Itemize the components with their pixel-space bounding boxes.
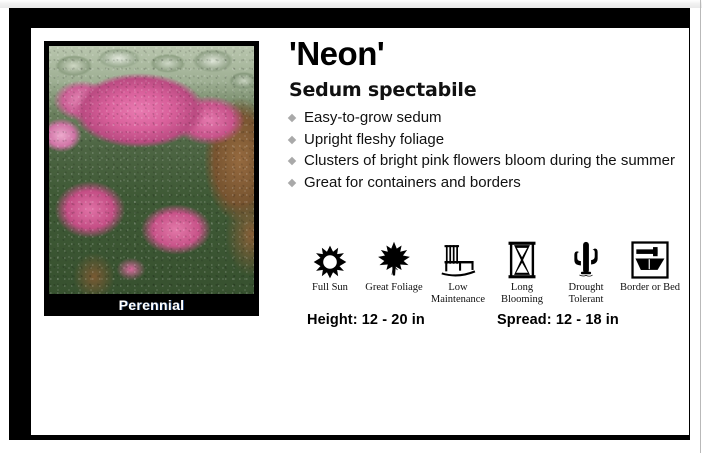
icon-label: Great Foliage xyxy=(363,282,425,294)
list-item: Upright fleshy foliage xyxy=(289,130,677,151)
garden-bed-icon xyxy=(619,237,681,279)
plant-info-column: 'Neon' Sedum spectabile Easy-to-grow sed… xyxy=(289,36,677,194)
plant-attribute-icon-row: Full Sun Great Foliage xyxy=(299,237,681,305)
attribute-long-blooming: Long Blooming xyxy=(491,237,553,305)
plant-cultivar-title: 'Neon' xyxy=(289,36,677,72)
sun-icon xyxy=(299,237,361,279)
list-item: Great for containers and borders xyxy=(289,173,677,194)
list-item: Easy-to-grow sedum xyxy=(289,108,677,129)
feature-text: Clusters of bright pink flowers bloom du… xyxy=(304,152,675,169)
rocking-chair-icon xyxy=(427,237,489,279)
plant-botanical-name: Sedum spectabile xyxy=(289,78,677,102)
icon-label: Low Maintenance xyxy=(427,282,489,305)
feature-text: Great for containers and borders xyxy=(304,174,521,191)
plant-photo-panel: Perennial xyxy=(44,41,259,316)
attribute-great-foliage: Great Foliage xyxy=(363,237,425,294)
height-text: Height: 12 - 20 in xyxy=(307,312,425,328)
right-edge-rule xyxy=(700,0,701,453)
dimension-spread: Spread: 12 - 18 in xyxy=(497,311,619,329)
dimension-height: Height: 12 - 20 in xyxy=(307,311,497,329)
maple-leaf-icon xyxy=(363,237,425,279)
icon-label: Drought Tolerant xyxy=(555,282,617,305)
attribute-border-or-bed: Border or Bed xyxy=(619,237,681,294)
diamond-bullet-icon xyxy=(288,135,296,143)
feature-text: Upright fleshy foliage xyxy=(304,131,444,148)
diamond-bullet-icon xyxy=(288,178,296,186)
list-item: Clusters of bright pink flowers bloom du… xyxy=(289,151,677,172)
black-frame-border: Perennial 'Neon' Sedum spectabile Easy-t… xyxy=(9,8,690,440)
spread-text: Spread: 12 - 18 in xyxy=(497,312,619,328)
feature-text: Easy-to-grow sedum xyxy=(304,109,442,126)
photo-texture-layer xyxy=(49,46,254,294)
hourglass-icon xyxy=(491,237,553,279)
attribute-low-maintenance: Low Maintenance xyxy=(427,237,489,305)
diamond-bullet-icon xyxy=(288,157,296,165)
icon-label: Border or Bed xyxy=(619,282,681,294)
icon-label: Long Blooming xyxy=(491,282,553,305)
top-gradient-strip xyxy=(0,0,702,8)
plant-photo xyxy=(49,46,254,294)
icon-label: Full Sun xyxy=(299,282,361,294)
plant-feature-list: Easy-to-grow sedum Upright fleshy foliag… xyxy=(289,108,677,193)
diamond-bullet-icon xyxy=(288,114,296,122)
photo-caption: Perennial xyxy=(44,297,259,313)
attribute-full-sun: Full Sun xyxy=(299,237,361,294)
screenshot-root: Perennial 'Neon' Sedum spectabile Easy-t… xyxy=(0,0,702,453)
cactus-icon xyxy=(555,237,617,279)
plant-info-card: Perennial 'Neon' Sedum spectabile Easy-t… xyxy=(31,28,689,435)
attribute-drought-tolerant: Drought Tolerant xyxy=(555,237,617,305)
plant-dimensions: Height: 12 - 20 in Spread: 12 - 18 in xyxy=(307,311,687,329)
